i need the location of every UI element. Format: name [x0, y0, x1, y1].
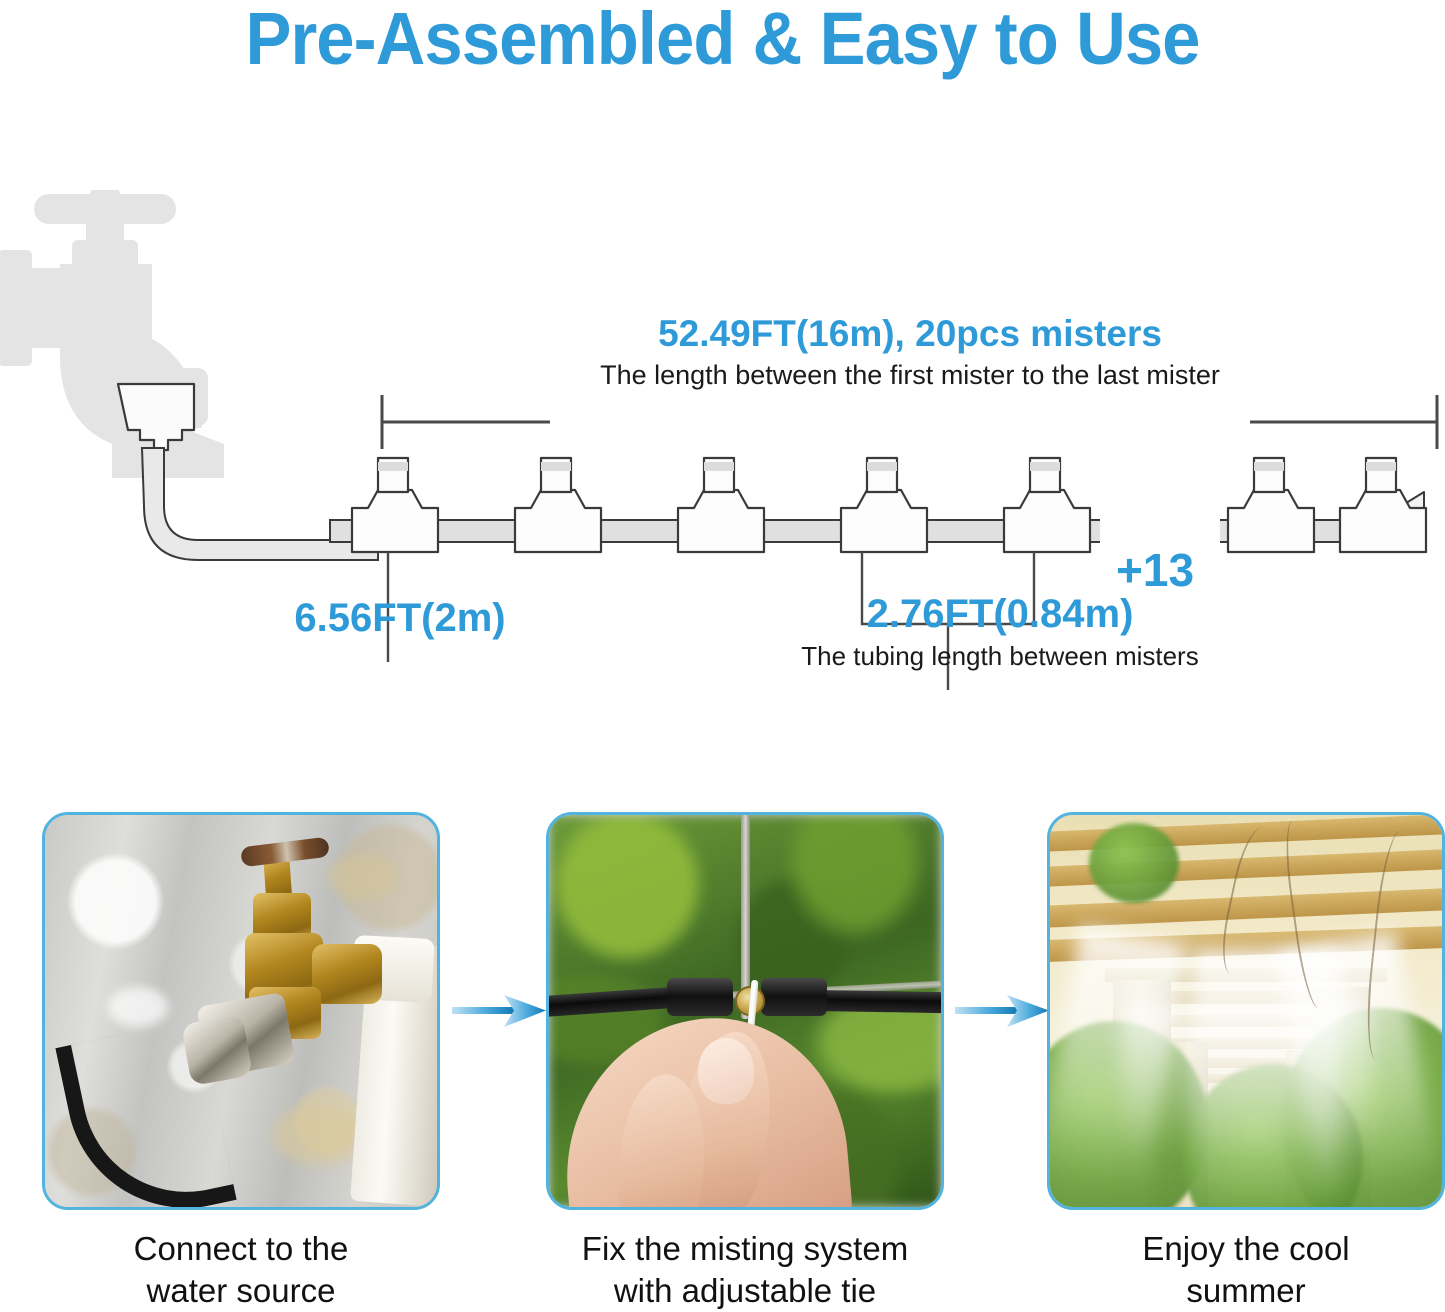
step-2-photo[interactable] [546, 812, 944, 1210]
main-dimension-value: 52.49FT(16m), 20pcs misters [430, 315, 1390, 354]
water-mist [1121, 1003, 1371, 1153]
misting-system-diagram: 52.49FT(16m), 20pcs misters The length b… [0, 110, 1445, 750]
step-3-caption: Enjoy the cool summer [1036, 1228, 1445, 1312]
step-1-photo-image [45, 815, 437, 1207]
mister-tee [1228, 458, 1314, 552]
extra-misters-label: +13 [1116, 547, 1194, 593]
step-2-photo-image [549, 815, 941, 1207]
steps-photo-row [0, 812, 1445, 1212]
mister-tee [1004, 458, 1090, 552]
mister-tee [678, 458, 764, 552]
faucet-icon [0, 190, 224, 478]
mister-tee [841, 458, 927, 552]
step-3-photo[interactable] [1047, 812, 1445, 1210]
page-title: Pre-Assembled & Easy to Use [51, 2, 1395, 76]
step-1-photo[interactable] [42, 812, 440, 1210]
spacing-dimension-label: 2.76FT(0.84m) The tubing length between … [650, 593, 1350, 672]
step-2-caption: Fix the misting system with adjustable t… [535, 1228, 955, 1312]
main-dimension-label: 52.49FT(16m), 20pcs misters The length b… [430, 315, 1390, 391]
spacing-dimension-value: 2.76FT(0.84m) [650, 593, 1350, 635]
faucet-inlet [312, 944, 382, 1004]
fingernail [698, 1038, 754, 1104]
dimension-text-mask [550, 390, 1250, 456]
pergola-background [1050, 815, 1442, 1207]
spacing-dimension-description: The tubing length between misters [650, 641, 1350, 672]
step-3-caption-line-1: Enjoy the cool [1036, 1228, 1445, 1270]
tube-connector-right [761, 978, 828, 1016]
step-1-caption-line-1: Connect to the [31, 1228, 451, 1270]
lead-in-dimension-value: 6.56FT(2m) [150, 597, 650, 639]
mister-tee [515, 458, 601, 552]
step-2-caption-line-1: Fix the misting system [535, 1228, 955, 1270]
infographic-page: Pre-Assembled & Easy to Use [0, 0, 1445, 1308]
step-3-caption-line-2: summer [1036, 1270, 1445, 1312]
foliage-bush [1089, 823, 1179, 903]
step-1-caption: Connect to the water source [31, 1228, 451, 1312]
arrow-right-icon [955, 989, 1051, 1033]
arrow-right-icon [452, 989, 548, 1033]
mister-tee [18, 458, 438, 552]
step-3-photo-image [1050, 815, 1442, 1207]
main-dimension-description: The length between the first mister to t… [430, 360, 1390, 391]
step-2-caption-line-2: with adjustable tie [535, 1270, 955, 1312]
tube-connector-left [667, 978, 734, 1016]
step-1-caption-line-2: water source [31, 1270, 451, 1312]
lead-in-dimension-label: 6.56FT(2m) [150, 597, 650, 639]
